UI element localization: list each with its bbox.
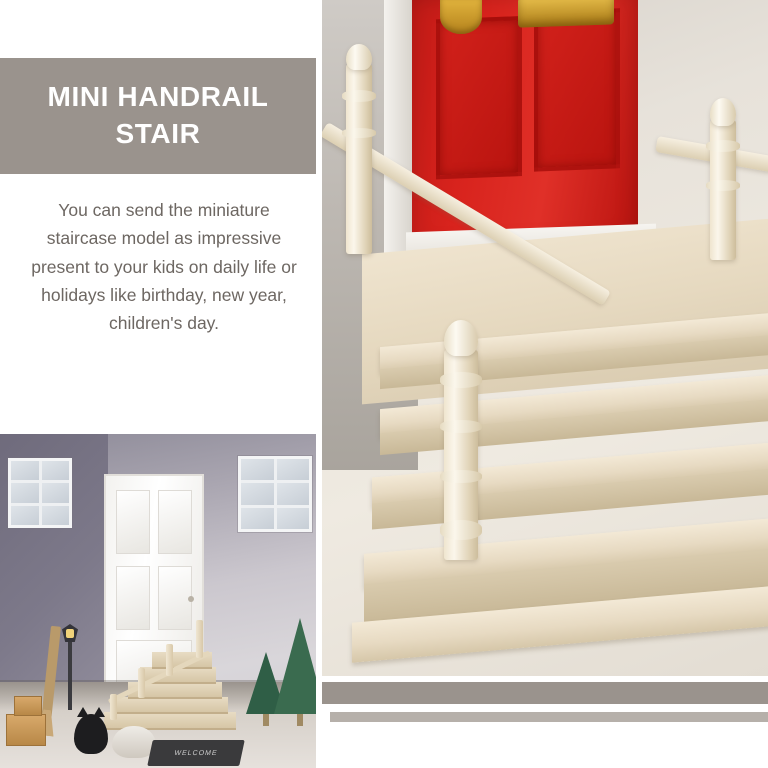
newel-post-center bbox=[444, 350, 478, 560]
window-pane bbox=[241, 483, 274, 504]
cardboard-box bbox=[14, 696, 42, 716]
finial-right bbox=[710, 98, 736, 126]
window-pane bbox=[11, 506, 39, 525]
street-lamp bbox=[62, 624, 78, 710]
baluster-knob bbox=[440, 372, 482, 388]
tree-trunk bbox=[263, 714, 269, 726]
window-pane bbox=[42, 461, 70, 480]
red-door-panel bbox=[436, 16, 522, 179]
doormat-label: WELCOME bbox=[147, 740, 245, 766]
finial-center bbox=[444, 320, 478, 356]
red-door bbox=[408, 0, 638, 250]
tree-trunk bbox=[297, 714, 303, 726]
door-panel bbox=[116, 490, 150, 554]
stair-step bbox=[116, 697, 228, 714]
window-pane bbox=[42, 506, 70, 525]
pine-tree-large bbox=[274, 618, 316, 726]
footer-bar-secondary bbox=[330, 712, 768, 722]
baluster-knob bbox=[706, 140, 740, 152]
cardboard-box bbox=[6, 714, 46, 746]
window-pane bbox=[241, 508, 274, 529]
stair-baluster bbox=[110, 694, 117, 720]
window-panes bbox=[11, 461, 69, 525]
window-pane bbox=[277, 459, 310, 480]
brass-knocker-icon bbox=[440, 0, 482, 34]
window-right bbox=[238, 456, 312, 532]
baluster-knob bbox=[440, 520, 482, 540]
baluster-top-left bbox=[346, 64, 372, 254]
window-panes bbox=[241, 459, 309, 529]
staircase-closeup-photo bbox=[322, 0, 768, 676]
baluster-knob bbox=[342, 90, 376, 102]
newel-post-right bbox=[710, 120, 736, 260]
tree-foliage bbox=[274, 618, 316, 714]
window-left bbox=[8, 458, 72, 528]
window-pane bbox=[277, 508, 310, 529]
product-infographic: MINI HANDRAIL STAIR You can send the min… bbox=[0, 0, 768, 768]
baluster-knob bbox=[706, 180, 740, 191]
baluster-knob bbox=[440, 470, 482, 483]
red-door-panel bbox=[534, 8, 620, 171]
door-knob bbox=[188, 596, 194, 602]
stair-baluster bbox=[166, 644, 173, 676]
window-pane bbox=[11, 483, 39, 502]
miniature-staircase-model bbox=[104, 612, 244, 730]
finial-top-left bbox=[346, 44, 372, 70]
footer-bar-primary bbox=[322, 682, 768, 704]
lamp-pole bbox=[68, 638, 72, 710]
baluster-knob bbox=[440, 420, 482, 433]
window-pane bbox=[42, 483, 70, 502]
brass-letter-plate-icon bbox=[518, 0, 614, 28]
baluster-knob bbox=[342, 128, 376, 138]
door-panel bbox=[158, 490, 192, 554]
description-text: You can send the miniature staircase mod… bbox=[22, 196, 306, 338]
window-pane bbox=[11, 461, 39, 480]
stair-newel-post bbox=[196, 620, 203, 658]
welcome-doormat: WELCOME bbox=[147, 740, 245, 766]
title-banner: MINI HANDRAIL STAIR bbox=[0, 58, 316, 174]
window-pane bbox=[277, 483, 310, 504]
stair-baluster bbox=[138, 668, 145, 698]
page-title: MINI HANDRAIL STAIR bbox=[0, 79, 316, 153]
room-scene-photo: WELCOME bbox=[0, 434, 316, 768]
window-pane bbox=[241, 459, 274, 480]
lamp-light bbox=[66, 629, 74, 638]
